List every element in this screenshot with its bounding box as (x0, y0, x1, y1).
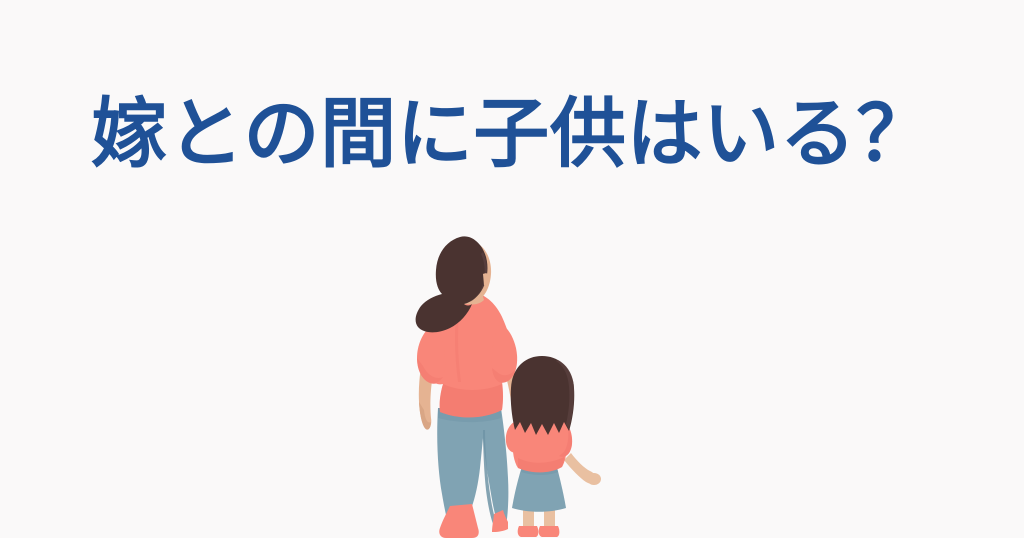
child-shoes (518, 526, 560, 537)
mother-and-child-illustration (398, 232, 630, 538)
page-canvas: 嫁との間に子供はいる？ (0, 0, 1024, 538)
child-free-arm (564, 453, 601, 485)
child-figure (506, 356, 601, 537)
page-title: 嫁との間に子供はいる？ (0, 95, 1024, 176)
